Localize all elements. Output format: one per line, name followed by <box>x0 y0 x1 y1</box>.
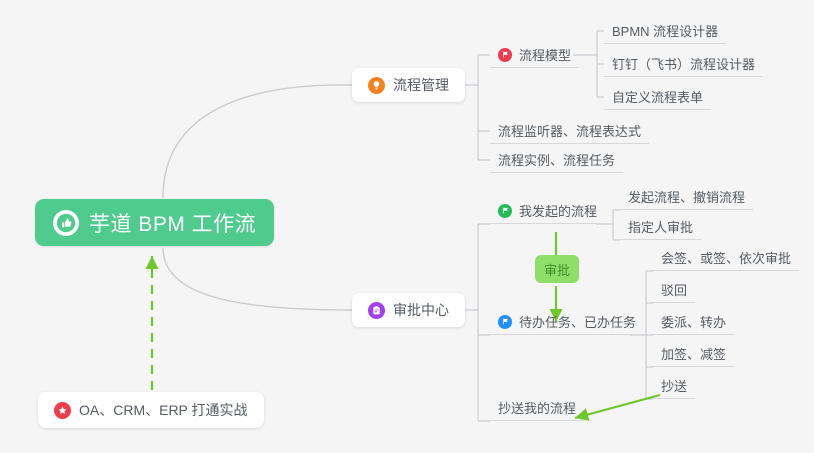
node-dingtalk-designer[interactable]: 钉钉（飞书）流程设计器 <box>604 51 763 77</box>
lightbulb-icon <box>368 77 385 94</box>
node-label-assignee-approval: 指定人审批 <box>628 217 693 236</box>
node-process-listener[interactable]: 流程监听器、流程表达式 <box>490 118 649 144</box>
flag-icon <box>498 315 512 329</box>
flag-icon <box>498 204 512 218</box>
node-reject[interactable]: 驳回 <box>653 277 695 303</box>
node-label-delegate-transfer: 委派、转办 <box>661 312 726 331</box>
root-label: 芋道 BPM 工作流 <box>89 208 256 238</box>
node-label-process-listener: 流程监听器、流程表达式 <box>498 121 641 140</box>
root-node[interactable]: 芋道 BPM 工作流 <box>35 199 274 246</box>
node-label-reject: 驳回 <box>661 280 687 299</box>
clipboard-icon <box>368 302 385 319</box>
badge-approval[interactable]: 审批 <box>535 255 579 283</box>
node-add-remove-sign[interactable]: 加签、减签 <box>653 341 734 367</box>
branch-label-approval-center: 审批中心 <box>393 300 449 320</box>
node-label-add-remove-sign: 加签、减签 <box>661 344 726 363</box>
branch-node-approval-center[interactable]: 审批中心 <box>352 293 465 327</box>
node-cc[interactable]: 抄送 <box>653 373 695 399</box>
node-label-start-cancel-process: 发起流程、撤销流程 <box>628 187 745 206</box>
node-label-process-instance: 流程实例、流程任务 <box>498 150 615 169</box>
green-arrow-cc-to-my-cc <box>575 395 660 418</box>
node-label-multi-approval: 会签、或签、依次审批 <box>661 248 791 267</box>
node-label-todo-done-tasks: 待办任务、已办任务 <box>519 312 636 331</box>
flag-icon <box>498 48 512 62</box>
star-icon <box>54 402 71 419</box>
branch-label-process-management: 流程管理 <box>393 75 449 95</box>
node-bpmn-designer[interactable]: BPMN 流程设计器 <box>604 18 726 44</box>
node-label-custom-form: 自定义流程表单 <box>612 87 703 106</box>
node-cc-to-me[interactable]: 抄送我的流程 <box>490 395 584 421</box>
node-start-cancel-process[interactable]: 发起流程、撤销流程 <box>620 184 753 210</box>
node-label-my-started-process: 我发起的流程 <box>519 201 597 220</box>
node-label-process-model: 流程模型 <box>519 45 571 64</box>
link-root-to-approval-center <box>163 248 352 310</box>
node-process-model[interactable]: 流程模型 <box>490 42 579 68</box>
mindmap-canvas: 芋道 BPM 工作流 流程管理 流程模型 BPMN 流程设计器 钉钉（飞书）流程… <box>0 0 814 453</box>
node-delegate-transfer[interactable]: 委派、转办 <box>653 309 734 335</box>
node-label-bpmn-designer: BPMN 流程设计器 <box>612 21 718 40</box>
node-todo-done-tasks[interactable]: 待办任务、已办任务 <box>490 309 644 335</box>
link-root-to-process-management <box>163 85 352 198</box>
branch-node-process-management[interactable]: 流程管理 <box>352 68 465 102</box>
callout-node-integration[interactable]: OA、CRM、ERP 打通实战 <box>38 392 264 428</box>
node-custom-form[interactable]: 自定义流程表单 <box>604 84 711 110</box>
node-process-instance[interactable]: 流程实例、流程任务 <box>490 147 623 173</box>
callout-label: OA、CRM、ERP 打通实战 <box>79 400 248 420</box>
node-label-dingtalk-designer: 钉钉（飞书）流程设计器 <box>612 54 755 73</box>
node-label-cc-to-me: 抄送我的流程 <box>498 398 576 417</box>
node-assignee-approval[interactable]: 指定人审批 <box>620 214 701 240</box>
thumbs-up-icon <box>53 210 79 236</box>
node-multi-approval[interactable]: 会签、或签、依次审批 <box>653 245 799 271</box>
badge-approval-label: 审批 <box>544 260 570 279</box>
node-label-cc: 抄送 <box>661 376 687 395</box>
node-my-started-process[interactable]: 我发起的流程 <box>490 198 605 224</box>
